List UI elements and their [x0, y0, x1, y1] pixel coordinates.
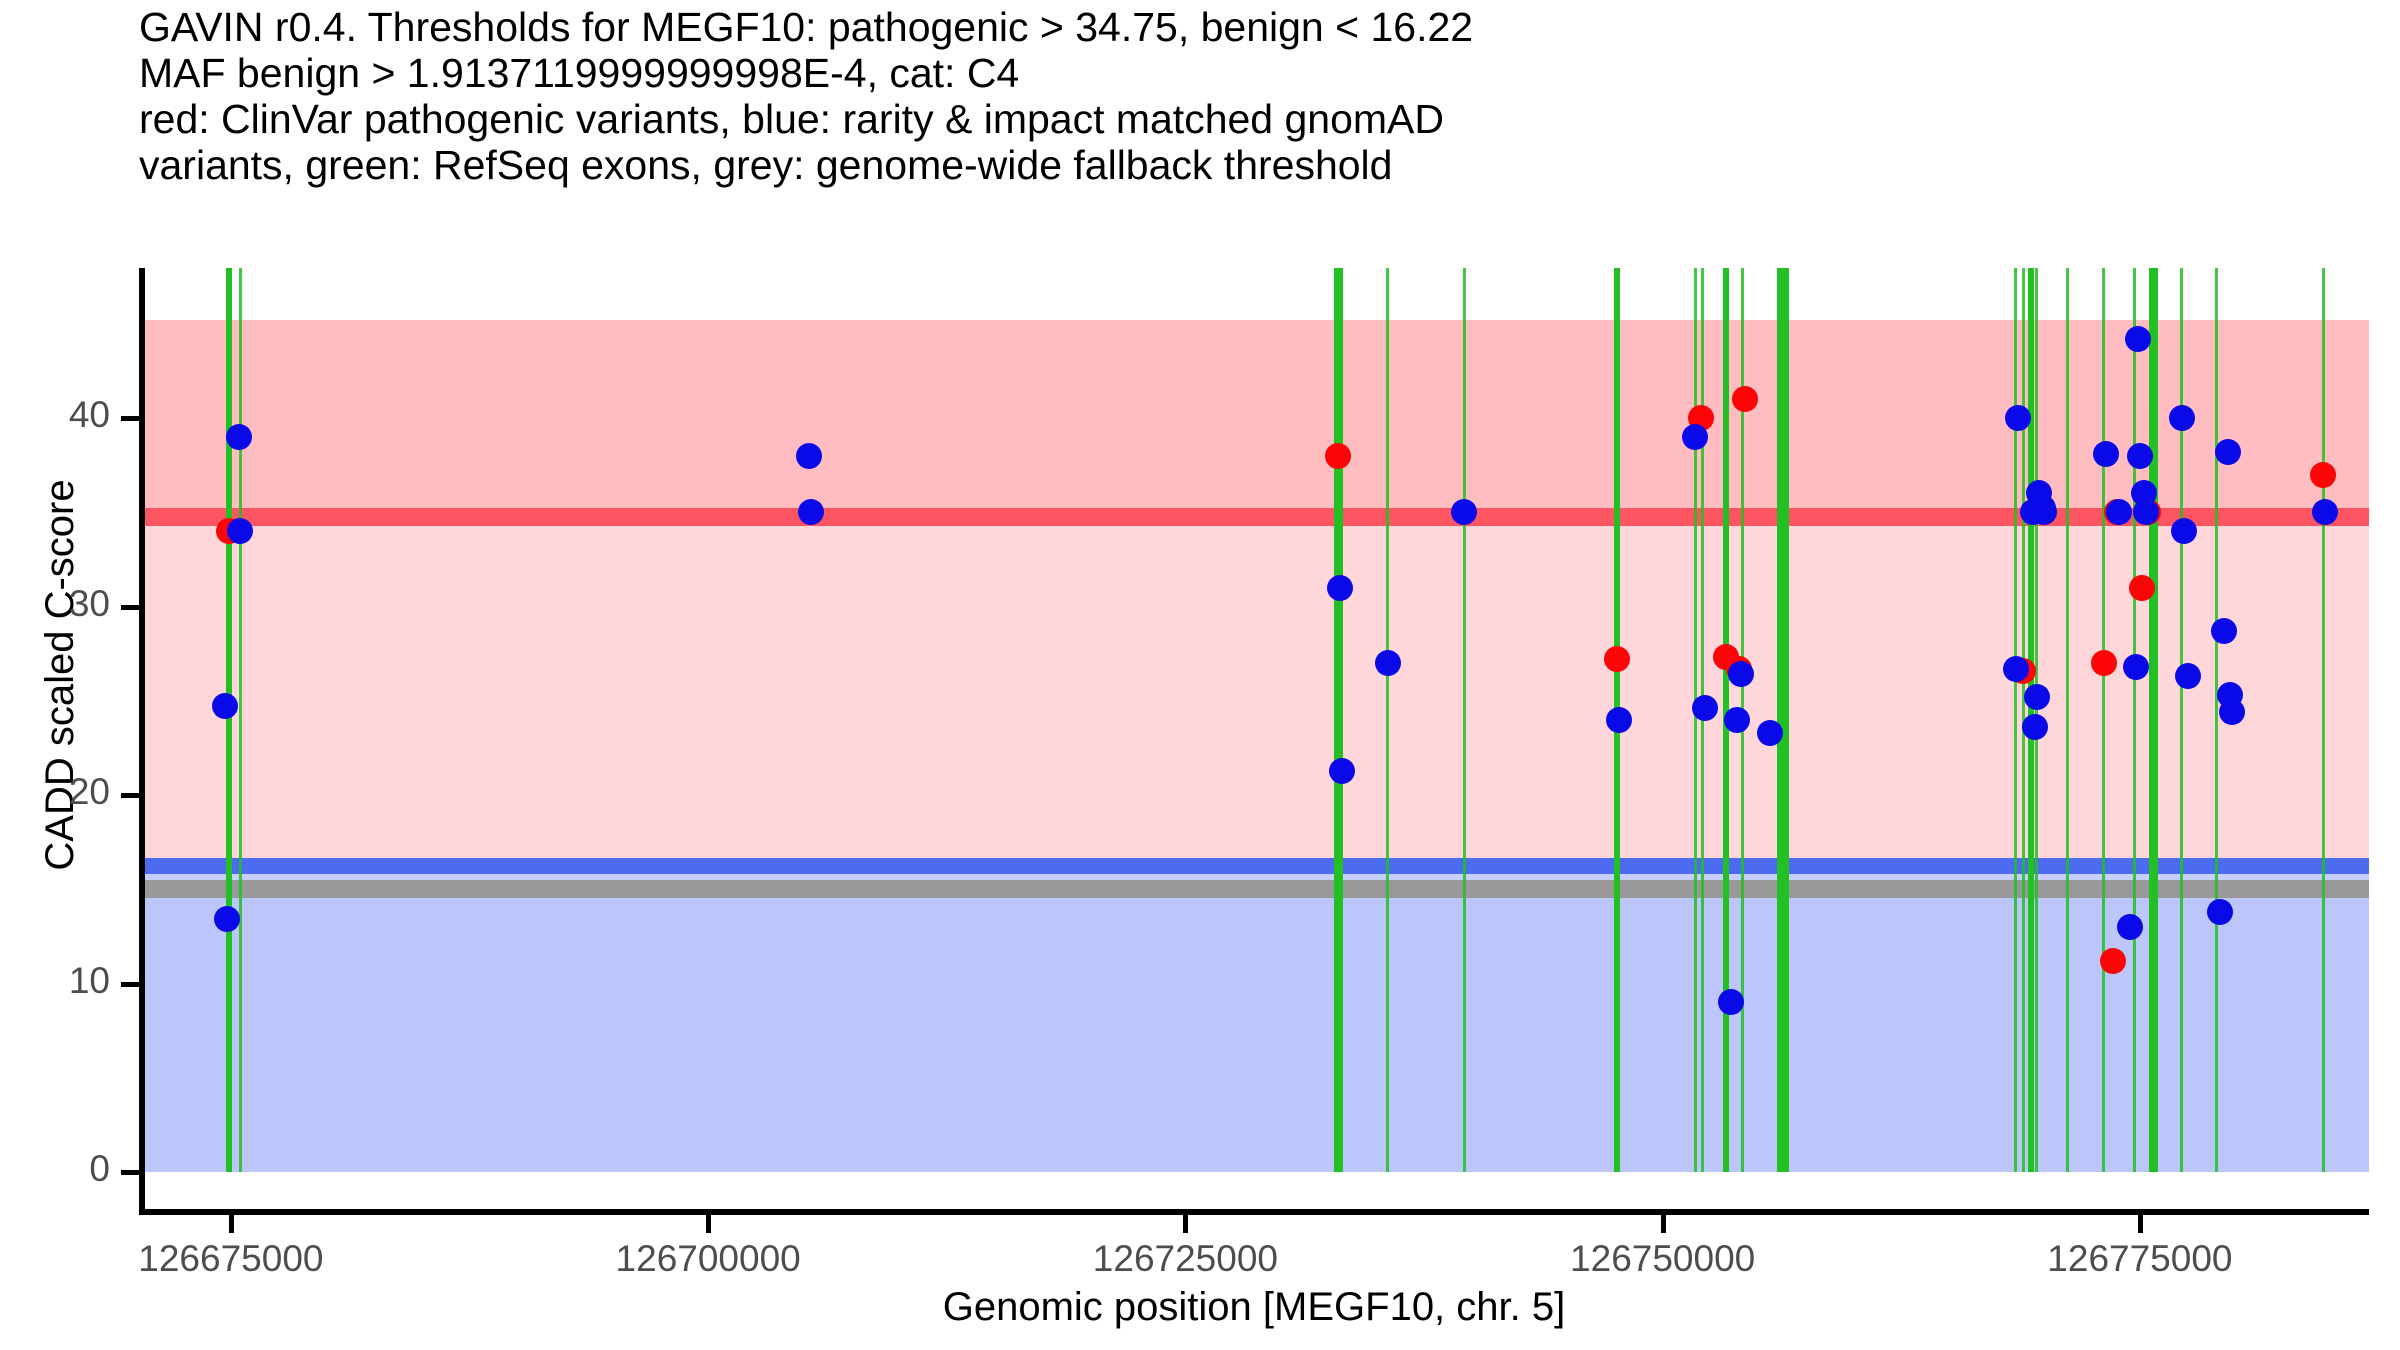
- x-tick-label: 126675000: [51, 1238, 411, 1280]
- y-tick: [121, 416, 139, 421]
- y-tick-label: 10: [0, 960, 110, 1002]
- y-tick: [121, 1170, 139, 1175]
- y-tick: [121, 605, 139, 610]
- title-line-1: GAVIN r0.4. Thresholds for MEGF10: patho…: [139, 4, 2339, 50]
- plot-frame: [139, 268, 2369, 1215]
- x-axis-title: Genomic position [MEGF10, chr. 5]: [139, 1285, 2369, 1330]
- y-tick: [121, 793, 139, 798]
- title-line-2: MAF benign > 1.9137119999999998E-4, cat:…: [139, 50, 2339, 96]
- chart-page: GAVIN r0.4. Thresholds for MEGF10: patho…: [0, 0, 2400, 1350]
- x-tick-label: 126750000: [1483, 1238, 1843, 1280]
- y-tick-label: 20: [0, 771, 110, 813]
- y-tick-label: 40: [0, 394, 110, 436]
- x-tick: [229, 1215, 234, 1233]
- x-tick-label: 126775000: [1960, 1238, 2320, 1280]
- y-tick: [121, 982, 139, 987]
- y-tick-label: 0: [0, 1148, 110, 1190]
- x-tick-label: 126700000: [528, 1238, 888, 1280]
- x-tick: [2138, 1215, 2143, 1233]
- title-line-4: variants, green: RefSeq exons, grey: gen…: [139, 142, 2339, 188]
- y-tick-label: 30: [0, 583, 110, 625]
- x-tick: [706, 1215, 711, 1233]
- x-tick: [1661, 1215, 1666, 1233]
- title-line-3: red: ClinVar pathogenic variants, blue: …: [139, 96, 2339, 142]
- x-tick-label: 126725000: [1005, 1238, 1365, 1280]
- chart-title: GAVIN r0.4. Thresholds for MEGF10: patho…: [139, 4, 2339, 188]
- x-tick: [1183, 1215, 1188, 1233]
